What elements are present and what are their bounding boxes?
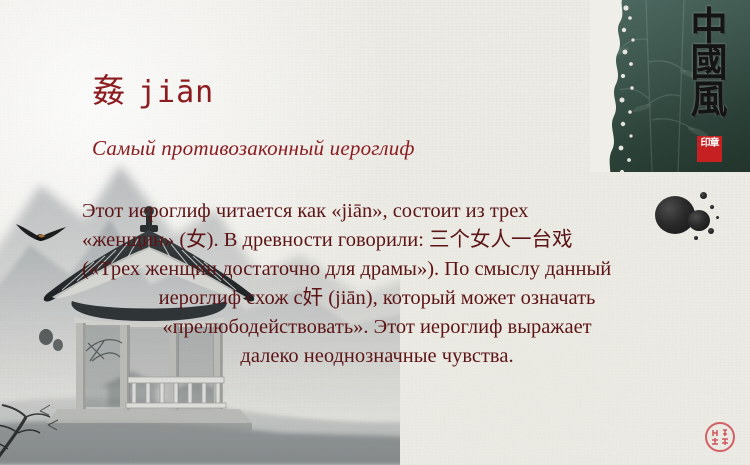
- slide-canvas: 中 國 風 印章 姦 jiān Самый противозаконный ие…: [0, 0, 750, 465]
- chinese-style-banner: 中 國 風 印章: [590, 0, 750, 172]
- ink-splatter-dot-4: [716, 216, 719, 219]
- ink-splatter-dot-2: [710, 205, 714, 209]
- calligraphy-char-3: 風: [682, 79, 736, 117]
- flying-bird-icon: [14, 218, 68, 252]
- banner-calligraphy: 中 國 風: [682, 8, 736, 117]
- chinese-pavilion-ink-painting: [0, 125, 400, 465]
- ink-splatter-dot-3: [708, 228, 714, 234]
- ink-splatter-dot-5: [694, 236, 698, 240]
- banner-seal-stamp: 印章: [697, 136, 722, 162]
- banner-torn-edge: [590, 0, 668, 172]
- ink-splatter-medium: [688, 210, 710, 231]
- ink-splatter-dot-1: [700, 192, 707, 199]
- corner-seal-stamp: [704, 421, 736, 453]
